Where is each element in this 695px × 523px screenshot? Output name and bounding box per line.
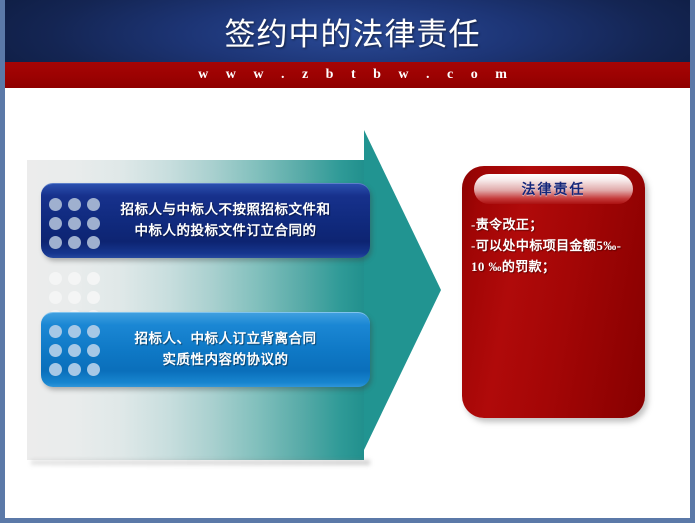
dot-grid-icon-box-1 xyxy=(49,198,106,255)
legal-liability-card-title: 法律责任 xyxy=(522,179,586,199)
legal-liability-card-header: 法律责任 xyxy=(474,174,633,204)
website-url-text: w w w . z b t b w . c o m xyxy=(191,67,514,83)
slide-canvas: 签约中的法律责任 w w w . z b t b w . c o m 招标人与中… xyxy=(0,0,695,523)
arrow-shadow xyxy=(31,460,370,465)
website-url-band: w w w . z b t b w . c o m xyxy=(5,62,695,88)
page-title: 签约中的法律责任 xyxy=(5,0,695,62)
condition-box-1-label: 招标人与中标人不按照招标文件和 中标人的投标文件订立合同的 xyxy=(75,200,337,242)
dot-grid-icon-box-2 xyxy=(49,325,106,382)
right-arrow-icon-head xyxy=(364,130,441,450)
legal-liability-card-body: -责令改正； -可以处中标项目金额5‰- 10 ‰的罚款； xyxy=(471,214,643,277)
condition-box-2-label: 招标人、中标人订立背离合同 实质性内容的协议的 xyxy=(89,329,323,371)
legal-liability-card[interactable]: 法律责任 -责令改正； -可以处中标项目金额5‰- 10 ‰的罚款； xyxy=(462,166,645,418)
